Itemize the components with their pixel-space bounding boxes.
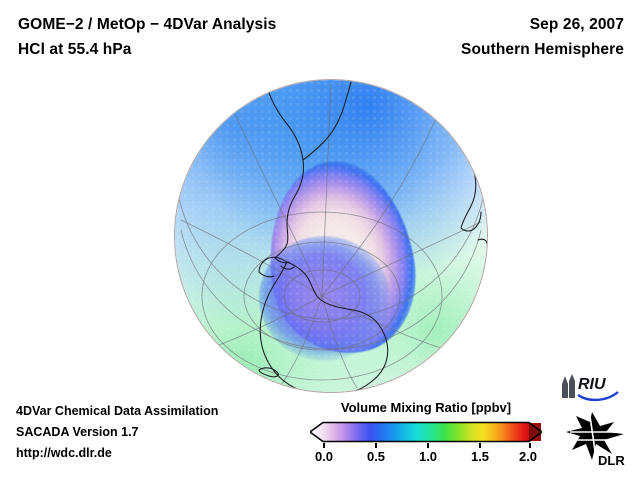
colorbar-label-1: 0.5 [367, 449, 385, 464]
figure-canvas: GOME−2 / MetOp − 4DVar Analysis HCl at 5… [0, 0, 640, 480]
footer-line-2: SACADA Version 1.7 [16, 422, 218, 443]
colorbar: Volume Mixing Ratio [ppbv] 0. [310, 400, 542, 466]
footer-credits: 4DVar Chemical Data Assimilation SACADA … [16, 401, 218, 464]
colorbar-label-3: 1.5 [471, 449, 489, 464]
dlr-wordmark: DLR [598, 453, 625, 468]
page-subtitle: HCl at 55.4 hPa [18, 37, 276, 62]
graticule-and-coastlines [175, 80, 487, 392]
colorbar-label-4: 2.0 [519, 449, 537, 464]
colorbar-title: Volume Mixing Ratio [ppbv] [310, 400, 542, 415]
globe-map [175, 80, 487, 392]
riu-towers-icon [562, 374, 575, 398]
colorbar-ticks [310, 443, 542, 448]
dlr-logo: DLR [562, 410, 632, 468]
colorbar-gradient [310, 421, 542, 443]
colorbar-label-2: 1.0 [419, 449, 437, 464]
colorbar-tick-4 [529, 443, 531, 448]
colorbar-tick-0 [323, 443, 325, 448]
globe-disc [175, 80, 487, 392]
header-left: GOME−2 / MetOp − 4DVar Analysis HCl at 5… [18, 12, 276, 62]
date-label: Sep 26, 2007 [461, 12, 624, 37]
footer-url: http://wdc.dlr.de [16, 443, 218, 464]
region-label: Southern Hemisphere [461, 37, 624, 62]
riu-wordmark: RIU [578, 376, 606, 393]
colorbar-label-0: 0.0 [315, 449, 333, 464]
colorbar-tick-1 [375, 443, 377, 448]
header-right: Sep 26, 2007 Southern Hemisphere [461, 12, 624, 62]
page-title: GOME−2 / MetOp − 4DVar Analysis [18, 12, 276, 37]
footer-line-1: 4DVar Chemical Data Assimilation [16, 401, 218, 422]
riu-swoosh-icon [578, 392, 618, 400]
colorbar-tick-3 [479, 443, 481, 448]
colorbar-tick-2 [427, 443, 429, 448]
colorbar-tick-labels: 0.0 0.5 1.0 1.5 2.0 [310, 449, 542, 466]
riu-logo: RIU [558, 372, 632, 402]
